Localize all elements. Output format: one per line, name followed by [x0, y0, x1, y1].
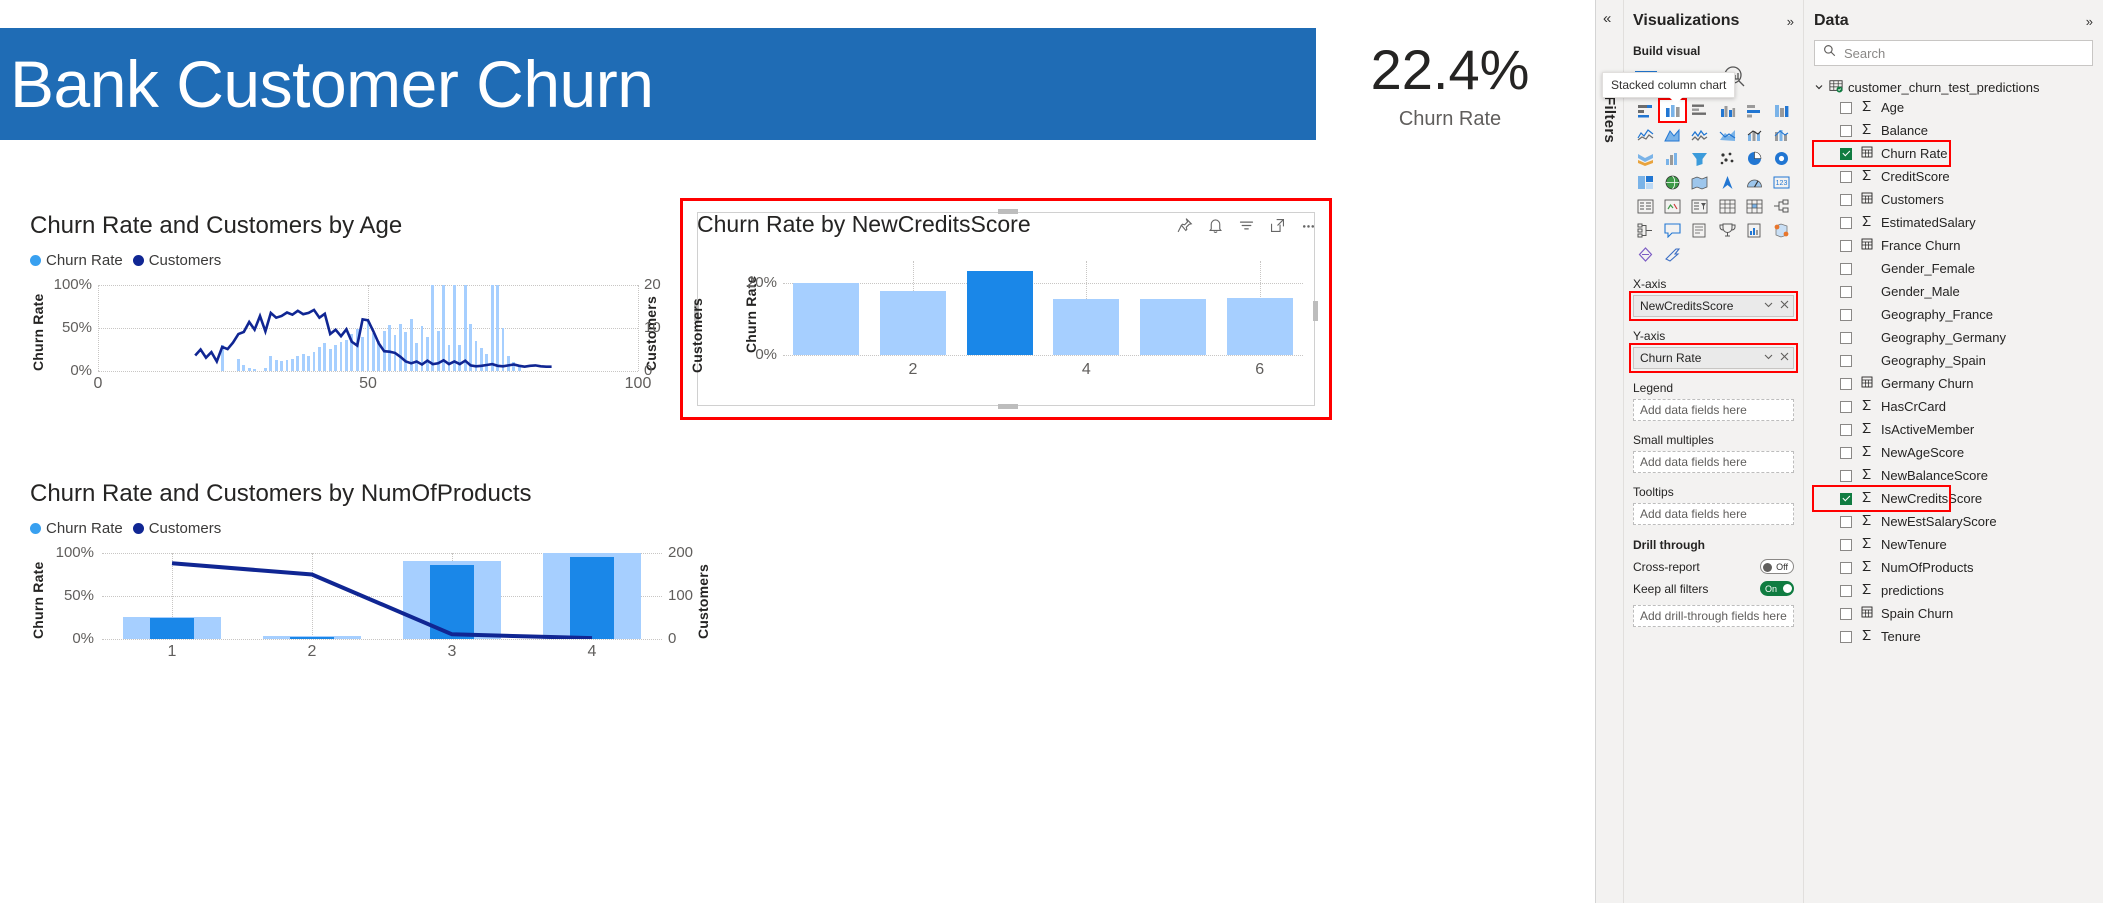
legend-dot-icon	[30, 523, 41, 534]
well-field-actions	[1763, 351, 1789, 365]
field-checkbox[interactable]	[1840, 539, 1852, 551]
well-x-axis[interactable]: NewCreditsScore	[1633, 295, 1794, 317]
measure-icon	[1860, 238, 1873, 253]
sigma-icon	[1860, 491, 1873, 506]
filters-label: Filters	[1601, 96, 1618, 143]
x-tick: 4	[570, 643, 614, 661]
field-name: Age	[1881, 100, 1904, 115]
field-row-isactivemember[interactable]: IsActiveMember	[1814, 418, 2093, 441]
field-checkbox[interactable]	[1840, 286, 1852, 298]
visual-header-actions	[1176, 211, 1317, 234]
field-list[interactable]: AgeBalanceChurn RateCreditScoreCustomers…	[1814, 96, 2093, 648]
field-name: predictions	[1881, 583, 1944, 598]
well-tooltips[interactable]: Add data fields here	[1633, 503, 1794, 525]
visual-title: Churn Rate and Customers by NumOfProduct…	[30, 480, 720, 508]
x-tick: 4	[1064, 361, 1108, 379]
x-tick: 2	[290, 643, 334, 661]
vgridline	[638, 285, 639, 371]
field-checkbox[interactable]	[1840, 240, 1852, 252]
field-name: Balance	[1881, 123, 1928, 138]
well-legend[interactable]: Add data fields here	[1633, 399, 1794, 421]
sigma-icon	[1860, 514, 1873, 529]
field-row-newcreditsscore[interactable]: NewCreditsScore	[1814, 487, 1949, 510]
gridline	[102, 639, 662, 640]
field-row-newbalancescore[interactable]: NewBalanceScore	[1814, 464, 2093, 487]
kpi-icon[interactable]	[1633, 196, 1658, 217]
funnel-chart-icon[interactable]	[1660, 148, 1685, 169]
well-value: Add data fields here	[1640, 455, 1747, 469]
plot-series[interactable]	[783, 261, 1303, 355]
bar[interactable]	[1140, 299, 1206, 355]
legend-label: Churn Rate	[46, 252, 123, 269]
field-name: EstimatedSalary	[1881, 215, 1976, 230]
x-tick: 50	[346, 375, 390, 393]
visual-churn-rate-by-newcreditsscore-selected[interactable]: Churn Rate by NewCreditsScore	[680, 198, 1332, 420]
keep-all-filters-toggle[interactable]: On	[1760, 581, 1794, 596]
field-name: NewEstSalaryScore	[1881, 514, 1997, 529]
matrix-icon[interactable]	[1714, 196, 1739, 217]
cross-report-label: Cross-report	[1633, 560, 1700, 574]
field-name: HasCrCard	[1881, 399, 1946, 414]
table-icon[interactable]	[1687, 196, 1712, 217]
visual-churn-rate-by-age[interactable]: Churn Rate and Customers by Age Churn Ra…	[30, 212, 670, 389]
pct-stacked-bar-chart-icon[interactable]	[1742, 100, 1767, 121]
y-tick: 100%	[44, 276, 92, 293]
x-tick: 100	[616, 375, 660, 393]
pct-stacked-column-chart-icon[interactable]	[1769, 100, 1794, 121]
search-input[interactable]: Search	[1814, 40, 2093, 66]
plot-area: Churn Rate Customers 0%50%100% 01020 050…	[30, 279, 670, 389]
bar[interactable]	[1053, 299, 1119, 355]
legend-label: Customers	[149, 520, 222, 537]
field-checkbox[interactable]	[1840, 309, 1852, 321]
legend-dot-icon	[133, 523, 144, 534]
field-row-numofproducts[interactable]: NumOfProducts	[1814, 556, 2093, 579]
well-label-y-axis: Y-axis	[1633, 329, 1794, 343]
visualizations-title: Visualizations	[1633, 12, 1739, 30]
plot-series[interactable]	[102, 553, 662, 639]
table-icon	[1829, 79, 1843, 96]
field-name: Geography_Germany	[1881, 330, 2006, 345]
field-checkbox[interactable]	[1840, 516, 1852, 528]
map-icon[interactable]	[1633, 172, 1658, 193]
field-name: NewAgeScore	[1881, 445, 1964, 460]
measure-icon	[1860, 192, 1873, 207]
y-tick: 0%	[723, 346, 777, 363]
sigma-icon	[1860, 445, 1873, 460]
y2-tick: 10	[644, 319, 674, 336]
visualizations-pane-header: Visualizations »	[1633, 0, 1794, 30]
field-row-newagescore[interactable]: NewAgeScore	[1814, 441, 2093, 464]
chevron-down-icon[interactable]	[1763, 299, 1774, 313]
field-checkbox[interactable]	[1840, 447, 1852, 459]
more-options-icon[interactable]	[1300, 217, 1317, 234]
sigma-icon	[1860, 583, 1873, 598]
field-name: Customers	[1881, 192, 1944, 207]
field-name: NewBalanceScore	[1881, 468, 1988, 483]
alert-bell-icon[interactable]	[1207, 217, 1224, 234]
well-value: NewCreditsScore	[1640, 299, 1733, 313]
filled-map-icon[interactable]	[1660, 172, 1685, 193]
legend: Churn Rate Customers	[30, 520, 720, 537]
field-checkbox[interactable]	[1840, 355, 1852, 367]
paginated-report-icon[interactable]	[1687, 220, 1712, 241]
field-row-customers[interactable]: Customers	[1814, 188, 2093, 211]
field-row-geography_germany[interactable]: Geography_Germany	[1814, 326, 2093, 349]
y-tick: 50%	[44, 319, 92, 336]
sigma-icon	[1860, 169, 1873, 184]
field-row-newtenure[interactable]: NewTenure	[1814, 533, 2093, 556]
field-checkbox[interactable]	[1840, 608, 1852, 620]
field-row-age[interactable]: Age	[1814, 96, 2093, 119]
visual-churn-rate-by-numofproducts[interactable]: Churn Rate and Customers by NumOfProduct…	[30, 480, 720, 657]
measure-icon	[1860, 376, 1873, 391]
visual-type-tooltip: Stacked column chart	[1602, 72, 1735, 98]
resize-handle-bottom[interactable]	[998, 404, 1018, 409]
treemap-icon[interactable]	[1769, 148, 1794, 169]
filters-rail[interactable]: « Filters	[1596, 0, 1624, 903]
field-checkbox[interactable]	[1840, 493, 1852, 505]
sigma-icon	[1860, 100, 1873, 115]
report-canvas[interactable]: Bank Customer Churn 22.4% Churn Rate Chu…	[0, 0, 1596, 903]
remove-field-icon[interactable]	[1780, 300, 1789, 312]
field-checkbox[interactable]	[1840, 424, 1852, 436]
field-name: Geography_Spain	[1881, 353, 1986, 368]
field-name: NumOfProducts	[1881, 560, 1973, 575]
data-pane[interactable]: Data » Search customer_churn_test_predic…	[1804, 0, 2103, 903]
legend-item-customers[interactable]: Customers	[133, 520, 222, 537]
x-tick: 6	[1238, 361, 1282, 379]
y2-tick: 100	[668, 587, 708, 604]
field-checkbox[interactable]	[1840, 194, 1852, 206]
field-name: IsActiveMember	[1881, 422, 1974, 437]
y2-tick: 20	[644, 276, 674, 293]
key-influencers-icon[interactable]	[1769, 196, 1794, 217]
cross-report-toggle[interactable]: Off	[1760, 559, 1794, 574]
slicer-icon[interactable]	[1660, 196, 1685, 217]
field-row-germany-churn[interactable]: Germany Churn	[1814, 372, 2093, 395]
well-y-axis[interactable]: Churn Rate	[1633, 347, 1794, 369]
field-checkbox[interactable]	[1840, 263, 1852, 275]
pin-icon[interactable]	[1176, 217, 1193, 234]
focus-mode-icon[interactable]	[1269, 217, 1286, 234]
neighbor-y2-axis-title: Customers	[689, 255, 705, 373]
field-name: Gender_Male	[1881, 284, 1960, 299]
chevron-down-icon[interactable]	[1763, 351, 1774, 365]
field-row-geography_france[interactable]: Geography_France	[1814, 303, 2093, 326]
power-apps-icon[interactable]	[1769, 220, 1794, 241]
field-row-balance[interactable]: Balance	[1814, 119, 2093, 142]
field-row-spain-churn[interactable]: Spain Churn	[1814, 602, 2093, 625]
line-stacked-column-icon[interactable]	[1714, 124, 1739, 145]
line-clustered-column-icon[interactable]	[1742, 124, 1767, 145]
data-title: Data	[1814, 12, 1849, 30]
legend-dot-icon	[133, 255, 144, 266]
kpi-label: Churn Rate	[1399, 108, 1501, 131]
field-checkbox[interactable]	[1840, 470, 1852, 482]
arcgis-map-icon[interactable]	[1742, 220, 1767, 241]
clustered-bar-chart-icon[interactable]	[1687, 100, 1712, 121]
sigma-icon	[1860, 422, 1873, 437]
gauge-icon[interactable]	[1714, 172, 1739, 193]
sigma-icon	[1860, 399, 1873, 414]
sigma-icon	[1860, 215, 1873, 230]
y2-tick: 200	[668, 544, 708, 561]
field-row-tenure[interactable]: Tenure	[1814, 625, 2093, 648]
legend: Churn Rate Customers	[30, 252, 670, 269]
report-banner: Bank Customer Churn	[0, 28, 1316, 140]
area-chart-icon[interactable]	[1660, 124, 1685, 145]
data-pane-header: Data »	[1814, 0, 2093, 30]
field-checkbox[interactable]	[1840, 562, 1852, 574]
build-visual-label: Build visual	[1633, 44, 1794, 58]
well-value: Add data fields here	[1640, 507, 1747, 521]
well-label-x-axis: X-axis	[1633, 277, 1794, 291]
field-name: Gender_Female	[1881, 261, 1975, 276]
field-row-france-churn[interactable]: France Churn	[1814, 234, 2093, 257]
field-checkbox[interactable]	[1840, 401, 1852, 413]
x-tick: 0	[76, 375, 120, 393]
well-label-small-multiples: Small multiples	[1633, 433, 1794, 447]
well-small-multiples[interactable]: Add data fields here	[1633, 451, 1794, 473]
field-name: Germany Churn	[1881, 376, 1973, 391]
customers-line[interactable]	[172, 563, 592, 638]
chevron-down-icon[interactable]	[1814, 80, 1824, 95]
field-row-estimatedsalary[interactable]: EstimatedSalary	[1814, 211, 2093, 234]
field-checkbox[interactable]	[1840, 125, 1852, 137]
card-icon[interactable]	[1742, 172, 1767, 193]
well-label-tooltips: Tooltips	[1633, 485, 1794, 499]
plot-series[interactable]	[98, 285, 638, 371]
qa-icon[interactable]	[1633, 220, 1658, 241]
visual-header: Churn Rate by NewCreditsScore	[697, 211, 1317, 238]
legend-item-churn-rate[interactable]: Churn Rate	[30, 520, 123, 537]
y2-tick: 0	[668, 630, 708, 647]
legend-label: Customers	[149, 252, 222, 269]
field-name: Geography_France	[1881, 307, 1993, 322]
field-checkbox[interactable]	[1840, 217, 1852, 229]
search-placeholder: Search	[1844, 46, 1885, 61]
plot-area: Churn Rate Customers 0%20% 246	[683, 255, 1329, 395]
x-tick: 3	[430, 643, 474, 661]
gridline	[98, 371, 638, 372]
narrative-icon[interactable]	[1660, 220, 1685, 241]
field-checkbox[interactable]	[1840, 332, 1852, 344]
expand-visualizations-icon[interactable]: »	[1787, 14, 1794, 29]
well-field-actions	[1763, 299, 1789, 313]
bar[interactable]	[1227, 298, 1293, 355]
svg-text:123: 123	[1776, 180, 1788, 187]
x-tick: 2	[891, 361, 935, 379]
scatter-chart-icon[interactable]	[1687, 148, 1712, 169]
field-checkbox[interactable]	[1840, 102, 1852, 114]
powerbi-report-editor: Bank Customer Churn 22.4% Churn Rate Chu…	[0, 0, 2103, 903]
measure-icon	[1860, 606, 1873, 621]
pie-chart-icon[interactable]	[1714, 148, 1739, 169]
decomposition-tree-icon[interactable]	[1742, 196, 1767, 217]
x-tick: 1	[150, 643, 194, 661]
field-name: Tenure	[1881, 629, 1921, 644]
measure-icon	[1860, 146, 1873, 161]
drill-through-title: Drill through	[1633, 538, 1794, 552]
y-tick: 20%	[723, 274, 777, 291]
power-automate-icon[interactable]	[1633, 244, 1658, 265]
sigma-icon	[1860, 123, 1873, 138]
field-name: Spain Churn	[1881, 606, 1953, 621]
ribbon-chart-icon[interactable]	[1769, 124, 1794, 145]
well-label-legend: Legend	[1633, 381, 1794, 395]
cross-report-row[interactable]: Cross-report Off	[1633, 559, 1794, 574]
remove-field-icon[interactable]	[1780, 352, 1789, 364]
field-name: CreditScore	[1881, 169, 1950, 184]
more-visuals-icon[interactable]	[1660, 244, 1685, 265]
field-row-hascrcard[interactable]: HasCrCard	[1814, 395, 2093, 418]
search-icon	[1823, 44, 1836, 62]
churn-rate-kpi-card[interactable]: 22.4% Churn Rate	[1330, 30, 1570, 142]
field-name: NewCreditsScore	[1881, 491, 1982, 506]
legend-label: Churn Rate	[46, 520, 123, 537]
field-checkbox[interactable]	[1840, 148, 1852, 160]
donut-chart-icon[interactable]	[1742, 148, 1767, 169]
stacked-bar-chart-icon[interactable]	[1633, 100, 1658, 121]
collapse-filters-icon[interactable]: «	[1603, 10, 1611, 27]
well-value: Churn Rate	[1640, 351, 1701, 365]
stacked-area-chart-icon[interactable]	[1687, 124, 1712, 145]
field-row-newestsalaryscore[interactable]: NewEstSalaryScore	[1814, 510, 2093, 533]
visual-title: Churn Rate and Customers by Age	[30, 212, 670, 240]
y-tick: 50%	[44, 587, 94, 604]
visual-type-gallery[interactable]: 123	[1633, 100, 1794, 265]
sigma-icon	[1860, 468, 1873, 483]
field-row-churn-rate[interactable]: Churn Rate	[1814, 142, 1949, 165]
customers-line[interactable]	[195, 310, 551, 367]
legend-item-customers[interactable]: Customers	[133, 252, 222, 269]
visualizations-pane[interactable]: Visualizations » Build visual Stacked co…	[1624, 0, 1804, 903]
bar[interactable]	[793, 283, 859, 355]
expand-data-icon[interactable]: »	[2086, 14, 2093, 29]
keep-all-filters-label: Keep all filters	[1633, 582, 1708, 596]
field-row-predictions[interactable]: predictions	[1814, 579, 2093, 602]
keep-all-filters-row[interactable]: Keep all filters On	[1633, 581, 1794, 596]
page-title: Bank Customer Churn	[0, 51, 653, 117]
kpi-value: 22.4%	[1371, 41, 1530, 100]
field-row-geography_spain[interactable]: Geography_Spain	[1814, 349, 2093, 372]
field-row-gender_female[interactable]: Gender_Female	[1814, 257, 2093, 280]
field-name: Churn Rate	[1881, 146, 1947, 161]
data-table-root[interactable]: customer_churn_test_predictions	[1814, 79, 2093, 96]
sigma-icon	[1860, 560, 1873, 575]
field-checkbox[interactable]	[1840, 631, 1852, 643]
plot-area: Churn Rate Customers 0%50%100% 0100200 1…	[30, 547, 720, 657]
visual-title: Churn Rate by NewCreditsScore	[697, 211, 1031, 238]
field-name: France Churn	[1881, 238, 1960, 253]
field-checkbox[interactable]	[1840, 378, 1852, 390]
filter-icon[interactable]	[1238, 217, 1255, 234]
sigma-icon	[1860, 629, 1873, 644]
bar[interactable]	[967, 271, 1033, 355]
field-row-creditscore[interactable]: CreditScore	[1814, 165, 2093, 188]
legend-dot-icon	[30, 255, 41, 266]
gridline	[783, 355, 1303, 356]
field-name: NewTenure	[1881, 537, 1947, 552]
field-checkbox[interactable]	[1840, 171, 1852, 183]
line-chart-icon[interactable]	[1633, 124, 1658, 145]
smart-narrative-icon[interactable]	[1714, 220, 1739, 241]
data-table-name: customer_churn_test_predictions	[1848, 80, 2040, 95]
sigma-icon	[1860, 537, 1873, 552]
field-row-gender_male[interactable]: Gender_Male	[1814, 280, 2093, 303]
drill-through-dropzone[interactable]: Add drill-through fields here	[1633, 605, 1794, 627]
waterfall-chart-icon[interactable]	[1633, 148, 1658, 169]
y-tick: 100%	[44, 544, 94, 561]
multi-row-card-icon[interactable]: 123	[1769, 172, 1794, 193]
azure-map-icon[interactable]	[1687, 172, 1712, 193]
field-checkbox[interactable]	[1840, 585, 1852, 597]
y-tick: 0%	[44, 630, 94, 647]
legend-item-churn-rate[interactable]: Churn Rate	[30, 252, 123, 269]
field-wells[interactable]: X-axisNewCreditsScoreY-axisChurn RateLeg…	[1633, 277, 1794, 525]
clustered-column-chart-icon[interactable]	[1714, 100, 1739, 121]
bar[interactable]	[880, 291, 946, 355]
well-value: Add data fields here	[1640, 403, 1747, 417]
